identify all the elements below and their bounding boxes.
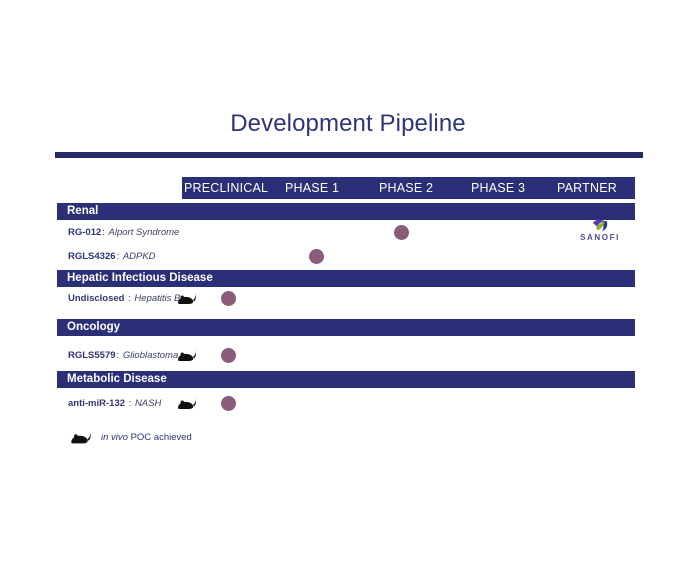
- program-label: RGLS4326: ADPKD: [68, 246, 156, 268]
- mouse-glyph-icon: [175, 291, 199, 307]
- program-separator: :: [116, 350, 121, 361]
- stage-dot-preclinical: [221, 396, 236, 411]
- stage-dot-preclinical: [221, 291, 236, 306]
- program-separator: :: [116, 251, 121, 262]
- column-header-phase-1: PHASE 1: [285, 177, 339, 199]
- mouse-icon: [175, 396, 199, 412]
- program-label: RG-012: Alport Syndrome: [68, 222, 179, 244]
- sanofi-mark-icon: [590, 218, 610, 233]
- program-label: anti-miR-132 : NASH: [68, 393, 161, 415]
- legend-label-rest: POC achieved: [128, 432, 192, 443]
- section-label: Renal: [67, 203, 98, 220]
- section-label: Metabolic Disease: [67, 371, 167, 388]
- program-code: RGLS5579: [68, 350, 116, 361]
- stage-dot-phase-1: [309, 249, 324, 264]
- mouse-glyph-icon: [175, 396, 199, 412]
- column-header-preclinical: PRECLINICAL: [184, 177, 268, 199]
- stage-dot-preclinical: [221, 348, 236, 363]
- section-header-renal: Renal: [57, 203, 635, 220]
- program-row: anti-miR-132 : NASH: [57, 393, 635, 415]
- program-row: RGLS4326: ADPKD: [57, 246, 635, 268]
- program-row: Undisclosed : Hepatitis B: [57, 288, 635, 310]
- legend-label-italic: in vivo: [101, 432, 128, 443]
- column-header-band: PRECLINICAL PHASE 1 PHASE 2 PHASE 3 PART…: [182, 177, 635, 199]
- program-indication: Alport Syndrome: [109, 227, 180, 238]
- section-label: Oncology: [67, 319, 120, 336]
- program-code: Undisclosed: [68, 293, 125, 304]
- section-label: Hepatic Infectious Disease: [67, 270, 213, 287]
- program-indication: Hepatitis B: [134, 293, 180, 304]
- mouse-icon: [175, 348, 199, 364]
- mouse-icon: [175, 291, 199, 307]
- mouse-glyph-icon: [175, 348, 199, 364]
- program-indication: ADPKD: [123, 251, 156, 262]
- header-divider-rule: [55, 152, 643, 158]
- program-row: RG-012: Alport Syndrome SANOFI: [57, 222, 635, 244]
- program-label: Undisclosed : Hepatitis B: [68, 288, 180, 310]
- stage-dot-phase-2: [394, 225, 409, 240]
- section-header-hepatic-infectious-disease: Hepatic Infectious Disease: [57, 270, 635, 287]
- mouse-glyph-icon: [68, 429, 94, 447]
- column-header-phase-2: PHASE 2: [379, 177, 433, 199]
- program-code: anti-miR-132: [68, 398, 125, 409]
- program-separator: :: [101, 227, 106, 238]
- legend-label: in vivo POC achieved: [101, 428, 192, 448]
- program-label: RGLS5579: Glioblastoma: [68, 345, 178, 367]
- column-header-phase-3: PHASE 3: [471, 177, 525, 199]
- program-code: RG-012: [68, 227, 101, 238]
- column-header-partner: PARTNER: [557, 177, 617, 199]
- page-title: Development Pipeline: [0, 110, 696, 138]
- section-header-oncology: Oncology: [57, 319, 635, 336]
- partner-logo-sanofi: SANOFI: [572, 218, 628, 248]
- partner-wordmark: SANOFI: [572, 233, 628, 242]
- program-separator: :: [127, 293, 132, 304]
- program-indication: Glioblastoma: [123, 350, 178, 361]
- program-indication: NASH: [135, 398, 161, 409]
- pipeline-chart: Development Pipeline PRECLINICAL PHASE 1…: [0, 0, 696, 564]
- legend-mouse-icon: [68, 429, 94, 447]
- program-code: RGLS4326: [68, 251, 116, 262]
- section-header-metabolic-disease: Metabolic Disease: [57, 371, 635, 388]
- program-separator: :: [128, 398, 133, 409]
- program-row: RGLS5579: Glioblastoma: [57, 345, 635, 367]
